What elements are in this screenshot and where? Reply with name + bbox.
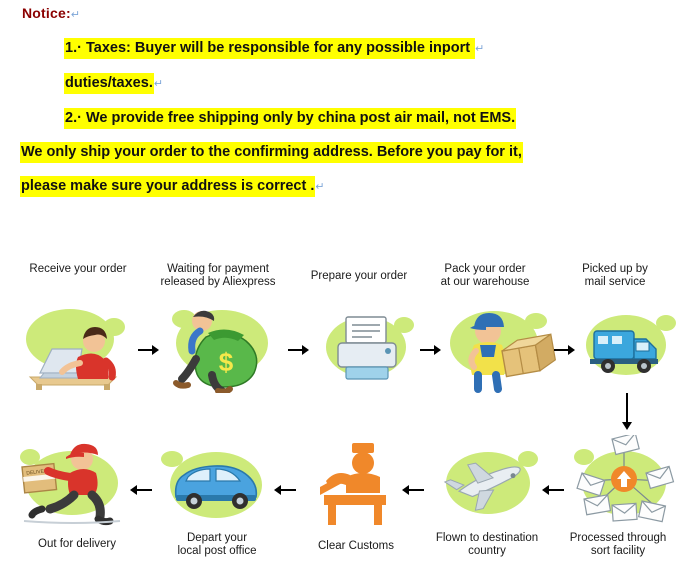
flow-step-receive-order-caption: Receive your order (14, 263, 142, 276)
flow-icon-worker-with-box (440, 297, 556, 393)
notice-line-4-text: We only ship your order to the confirmin… (21, 144, 522, 160)
flow-step-sort-facility-caption: Processed through sort facility (556, 532, 680, 558)
sorting-facility-icon (572, 435, 678, 529)
flow-caption: Out for delivery (14, 538, 140, 551)
notice-line-5-text: please make sure your address is correct… (21, 178, 314, 194)
flow-arrow-left-1 (540, 483, 564, 497)
notice-title-text: Notice: (22, 5, 71, 21)
flow-icon-person-carrying-money-bag: $ (160, 297, 286, 393)
flow-arrow-right-3 (420, 343, 442, 357)
notice-title: Notice:↵ (22, 5, 80, 21)
flow-caption: Clear Customs (296, 540, 416, 553)
flow-caption: Waiting for payment released by Aliexpre… (148, 263, 288, 289)
notice-line-3-text: We provide free shipping only by china p… (86, 110, 515, 126)
flow-icon-running-courier: DELIVERY (14, 433, 130, 529)
delivery-truck-icon (574, 303, 678, 389)
pilcrow-mark: ↵ (315, 181, 324, 193)
person-carrying-money-bag-icon: $ (160, 297, 286, 393)
notice-line-1: 1.· Taxes: Buyer will be responsible for… (20, 40, 670, 58)
svg-text:$: $ (219, 347, 234, 377)
flow-arrow-right-4 (554, 343, 576, 357)
pilcrow-mark: ↵ (475, 43, 484, 55)
flow-step-clear-customs-caption: Clear Customs (296, 540, 416, 553)
flow-step-waiting-payment-caption: Waiting for payment released by Aliexpre… (148, 263, 288, 289)
flow-caption: Picked up by mail service (556, 263, 674, 289)
flow-arrow-left-3 (272, 483, 296, 497)
flow-step-depart-post-office-caption: Depart your local post office (154, 532, 280, 558)
notice-line-1-text: Taxes: Buyer will be responsible for any… (86, 40, 470, 56)
notice-line-3: 2.· We provide free shipping only by chi… (20, 110, 670, 127)
person-at-laptop-icon (18, 301, 138, 391)
flow-step-pack-order-caption: Pack your order at our warehouse (424, 263, 546, 289)
flow-icon-person-at-laptop (18, 301, 138, 391)
notice-line-2-text: duties/taxes. (65, 75, 153, 91)
flow-step-picked-up-caption: Picked up by mail service (556, 263, 674, 289)
notice-line-4: We only ship your order to the confirmin… (20, 144, 670, 161)
worker-with-box-icon (440, 297, 556, 393)
flow-step-flown-destination-caption: Flown to destination country (420, 532, 554, 558)
flow-arrow-down (620, 393, 634, 431)
printer-icon (312, 303, 422, 391)
flow-caption: Pack your order at our warehouse (424, 263, 546, 289)
order-process-flow-diagram: Receive your order Waiting for payment r… (0, 255, 685, 586)
flow-step-prepare-order-caption: Prepare your order (294, 270, 424, 283)
flow-icon-airplane (434, 439, 542, 527)
flow-caption: Receive your order (14, 263, 142, 276)
notice-line-5: please make sure your address is correct… (20, 178, 670, 196)
notice-body: 1.· Taxes: Buyer will be responsible for… (20, 40, 670, 213)
flow-icon-customs-officer-desk (306, 437, 406, 529)
flow-caption: Depart your local post office (154, 532, 280, 558)
notice-line-2: duties/taxes.↵ (20, 75, 670, 93)
pilcrow-mark: ↵ (154, 78, 163, 90)
flow-icon-blue-van (158, 437, 274, 529)
flow-step-out-for-delivery-caption: Out for delivery (14, 538, 140, 551)
running-courier-icon: DELIVERY (14, 433, 130, 529)
flow-caption: Flown to destination country (420, 532, 554, 558)
notice-line-1-number: 1. (65, 40, 77, 56)
blue-van-icon (158, 437, 274, 529)
customs-officer-desk-icon (306, 437, 406, 529)
flow-icon-delivery-truck (574, 303, 678, 389)
flow-arrow-right-2 (288, 343, 310, 357)
flow-arrow-right-1 (138, 343, 160, 357)
pilcrow-mark: ↵ (71, 9, 80, 21)
flow-caption: Prepare your order (294, 270, 424, 283)
flow-caption: Processed through sort facility (556, 532, 680, 558)
airplane-icon (434, 439, 542, 527)
flow-icon-printer (312, 303, 422, 391)
notice-line-3-number: 2. (65, 110, 77, 126)
flow-arrow-left-4 (128, 483, 152, 497)
flow-icon-sorting-facility (572, 435, 678, 529)
